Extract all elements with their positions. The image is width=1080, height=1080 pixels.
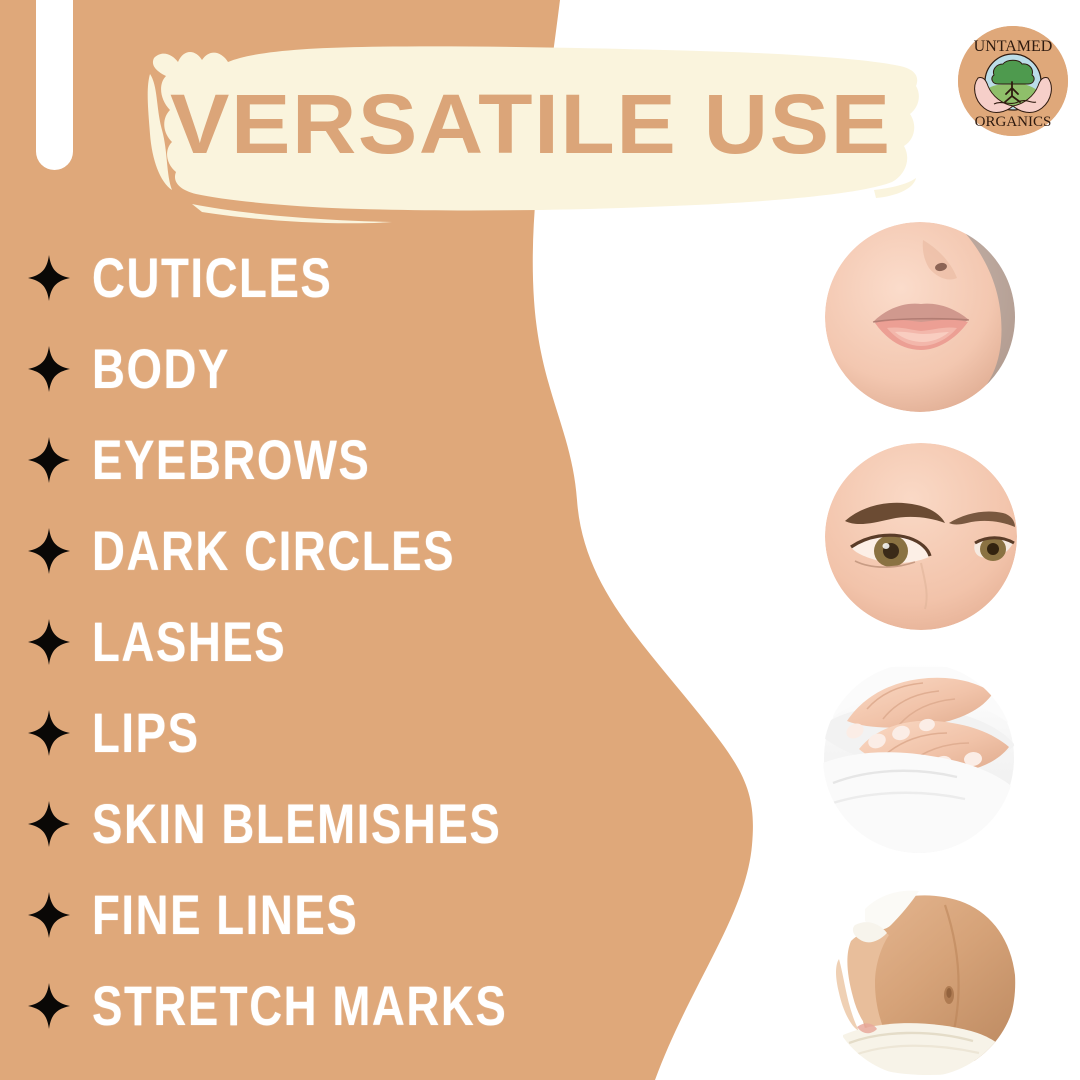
list-item-label: LIPS bbox=[92, 705, 200, 760]
header-banner: VERSATILE USE bbox=[132, 34, 922, 229]
list-item[interactable]: SKIN BLEMISHES bbox=[0, 778, 640, 869]
four-point-star-icon bbox=[28, 528, 70, 574]
four-point-star-icon bbox=[28, 619, 70, 665]
untamed-organics-logo-icon: UNTAMED ORGANICS bbox=[958, 26, 1068, 136]
four-point-star-icon bbox=[28, 983, 70, 1029]
logo-top-text: UNTAMED bbox=[974, 38, 1053, 55]
page-title: VERSATILE USE bbox=[170, 82, 933, 166]
four-point-star-icon bbox=[28, 346, 70, 392]
list-item-label: FINE LINES bbox=[92, 887, 358, 942]
list-item[interactable]: LASHES bbox=[0, 596, 640, 687]
list-item[interactable]: DARK CIRCLES bbox=[0, 505, 640, 596]
list-item[interactable]: BODY bbox=[0, 323, 640, 414]
list-item[interactable]: STRETCH MARKS bbox=[0, 960, 640, 1051]
four-point-star-icon bbox=[28, 710, 70, 756]
versatile-use-poster: VERSATILE USE UNTAMED ORGANICS bbox=[0, 0, 1080, 1080]
benefit-list: CUTICLES BODY EYEBROWS DARK CIRCLES LASH bbox=[0, 232, 640, 1051]
photo-eyebrow-closeup bbox=[825, 443, 1017, 630]
list-item[interactable]: LIPS bbox=[0, 687, 640, 778]
list-item-label: SKIN BLEMISHES bbox=[92, 796, 501, 851]
list-item[interactable]: CUTICLES bbox=[0, 232, 640, 323]
photo-hands-nails bbox=[823, 663, 1015, 853]
four-point-star-icon bbox=[28, 892, 70, 938]
four-point-star-icon bbox=[28, 801, 70, 847]
logo-bottom-text: ORGANICS bbox=[975, 114, 1052, 130]
list-item[interactable]: FINE LINES bbox=[0, 869, 640, 960]
list-item-label: BODY bbox=[92, 341, 230, 396]
list-item-label: EYEBROWS bbox=[92, 432, 370, 487]
list-item[interactable]: EYEBROWS bbox=[0, 414, 640, 505]
photo-lips-closeup bbox=[825, 222, 1015, 412]
list-item-label: STRETCH MARKS bbox=[92, 978, 507, 1033]
four-point-star-icon bbox=[28, 437, 70, 483]
four-point-star-icon bbox=[28, 255, 70, 301]
list-item-label: DARK CIRCLES bbox=[92, 523, 455, 578]
brand-logo: UNTAMED ORGANICS bbox=[958, 26, 1068, 136]
list-item-label: LASHES bbox=[92, 614, 286, 669]
list-item-label: CUTICLES bbox=[92, 250, 332, 305]
left-accent-bar bbox=[36, 0, 73, 170]
photo-torso-belly bbox=[825, 885, 1017, 1077]
